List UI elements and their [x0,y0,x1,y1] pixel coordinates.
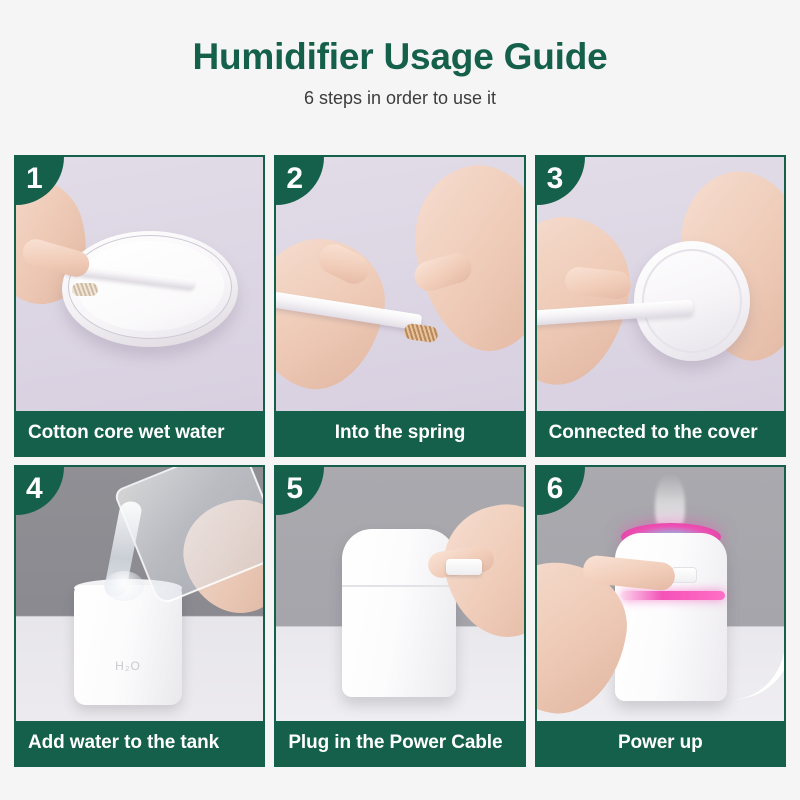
step-caption-3: Connected to the cover [537,411,784,455]
step-photo-2: 2 [276,157,523,411]
body-seam-shape [342,585,456,587]
steps-grid: 1 Cotton core wet water 2 Into the sprin… [14,155,786,767]
step-photo-6: 6 [537,467,784,721]
step-card-4[interactable]: H₂O 4 Add water to the tank [14,465,265,767]
step-card-5[interactable]: 5 Plug in the Power Cable [274,465,525,767]
water-splash-shape [104,571,144,601]
usb-plug-shape [446,559,482,575]
step-photo-5: 5 [276,467,523,721]
step-caption-4: Add water to the tank [16,721,263,765]
spring-shape [72,283,98,296]
step-caption-2: Into the spring [276,411,523,455]
step-photo-4: H₂O 4 [16,467,263,721]
step-card-6[interactable]: 6 Power up [535,465,786,767]
page-subtitle: 6 steps in order to use it [0,89,800,109]
tank-h2o-label: H₂O [74,659,182,673]
header: Humidifier Usage Guide 6 steps in order … [0,0,800,109]
bowl-inner-shape [76,241,224,331]
step-card-2[interactable]: 2 Into the spring [274,155,525,457]
infographic-page: Humidifier Usage Guide 6 steps in order … [0,0,800,800]
step-caption-6: Power up [537,721,784,765]
water-tank-shape [74,585,182,705]
page-title: Humidifier Usage Guide [0,38,800,77]
step-caption-5: Plug in the Power Cable [276,721,523,765]
step-card-3[interactable]: 3 Connected to the cover [535,155,786,457]
step-photo-1: 1 [16,157,263,411]
step-caption-1: Cotton core wet water [16,411,263,455]
step-photo-3: 3 [537,157,784,411]
led-glow-band [621,591,725,600]
step-card-1[interactable]: 1 Cotton core wet water [14,155,265,457]
